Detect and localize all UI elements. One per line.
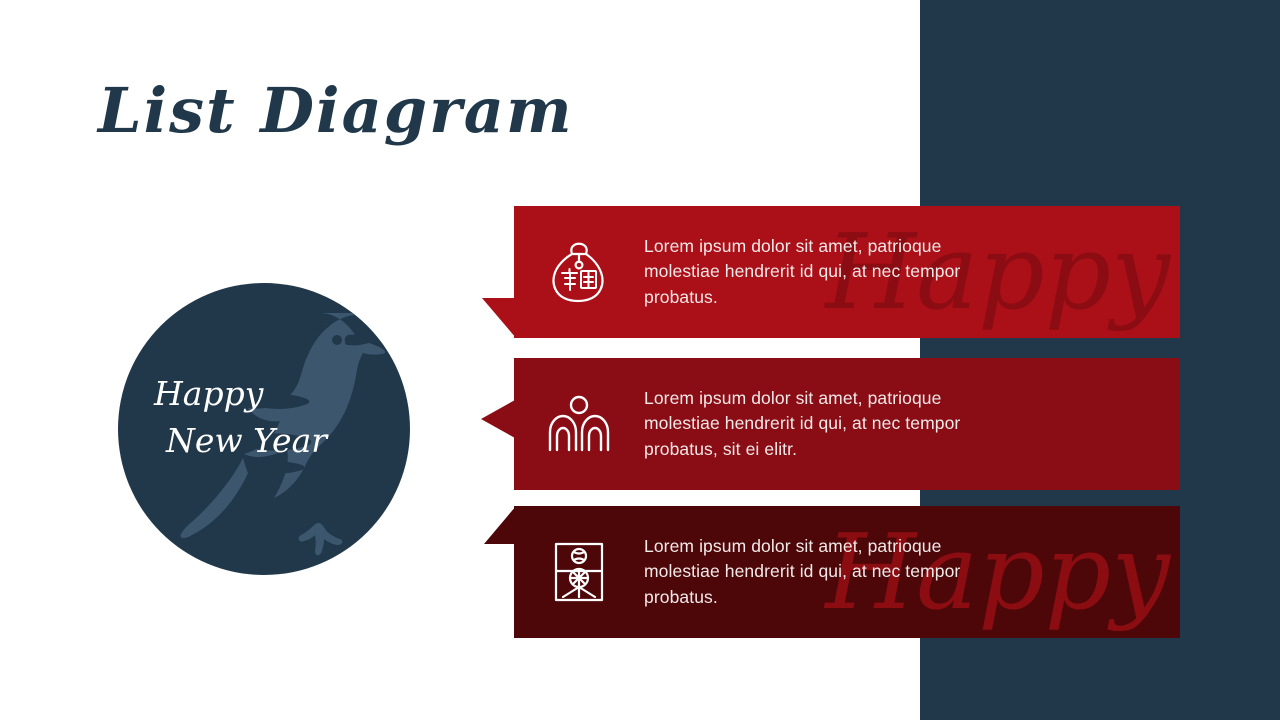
temple-arch-icon — [514, 392, 644, 456]
list-item-1[interactable]: Happy — [514, 206, 1180, 338]
badge-text: Happy New Year — [138, 371, 384, 465]
list-item-2-text: Lorem ipsum dolor sit amet, patrioque mo… — [644, 386, 1014, 462]
badge-line-2: New Year — [154, 418, 384, 465]
page-title: List Diagram — [98, 74, 574, 147]
ferris-wheel-icon — [514, 540, 644, 604]
banner-3-tail — [484, 506, 516, 544]
slide-canvas: List Diagram Happy New Year Happy — [0, 0, 1280, 720]
list-item-3-text: Lorem ipsum dolor sit amet, patrioque mo… — [644, 534, 1014, 610]
banner-1-tail — [482, 298, 516, 338]
lucky-money-bag-icon — [514, 240, 644, 304]
list-item-1-text: Lorem ipsum dolor sit amet, patrioque mo… — [644, 234, 1014, 310]
list-item-3[interactable]: Happy Lorem ipsum dolo — [514, 506, 1180, 638]
list-item-2[interactable]: Lorem ipsum dolor sit amet, patrioque mo… — [514, 358, 1180, 490]
banner-2-tail — [481, 400, 515, 438]
happy-new-year-badge: Happy New Year — [118, 283, 410, 575]
badge-line-1: Happy — [154, 374, 263, 413]
